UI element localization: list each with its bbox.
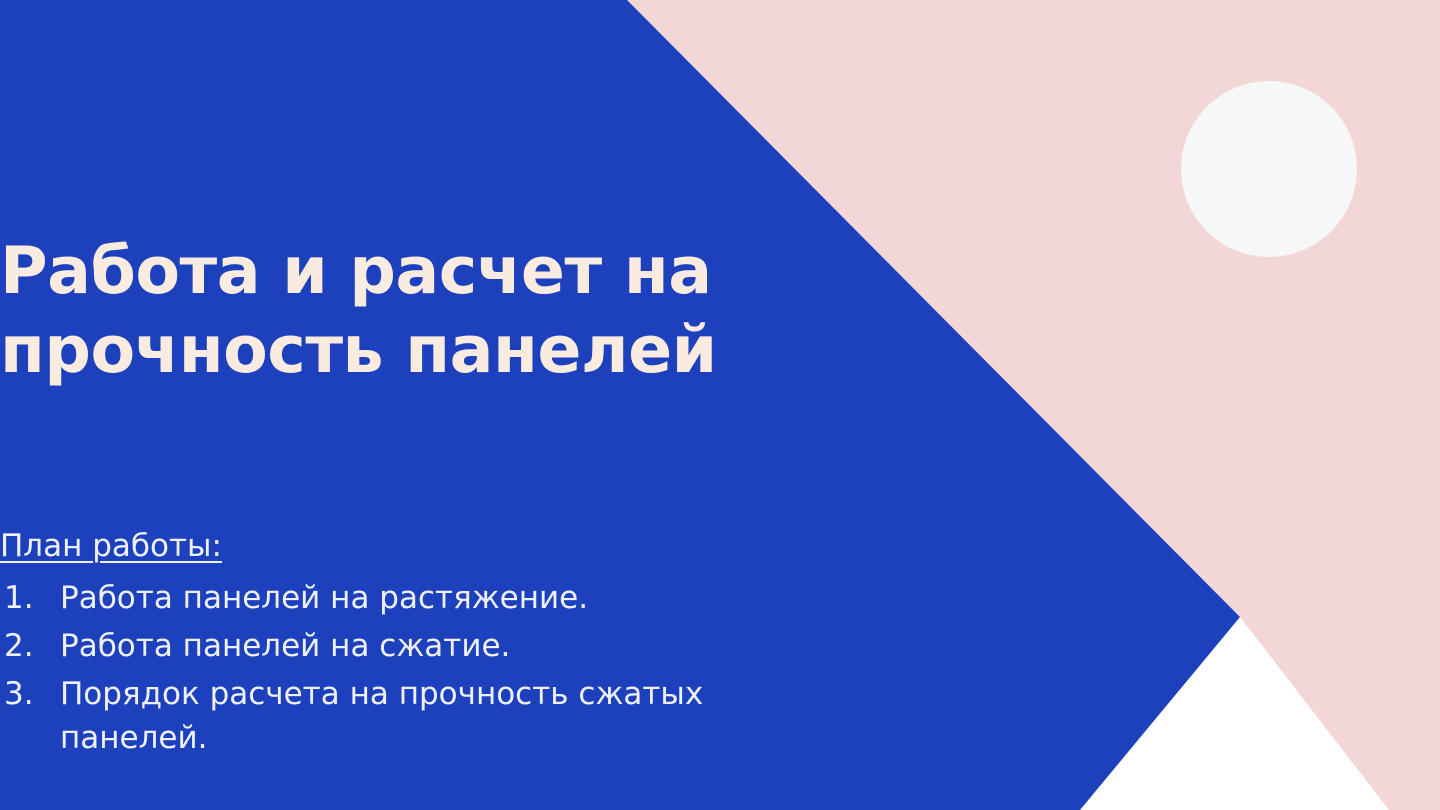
list-item: 3. Порядок расчета на прочность сжатых п…: [0, 672, 860, 760]
plan-heading: План работы:: [0, 524, 222, 568]
plan-block: План работы: 1. Работа панелей на растяж…: [0, 524, 860, 760]
list-item-text: Работа панелей на растяжение.: [60, 580, 588, 616]
list-item-number: 1.: [4, 576, 50, 620]
list-item-number: 2.: [4, 624, 50, 668]
slide-content: Работа и расчет на прочность панелей Пла…: [0, 0, 1440, 810]
list-item-text: Порядок расчета на прочность сжатых пане…: [60, 676, 703, 756]
list-item-text: Работа панелей на сжатие.: [60, 628, 510, 664]
list-item: 1. Работа панелей на растяжение.: [0, 576, 860, 620]
list-item-number: 3.: [4, 672, 50, 716]
presentation-slide: Работа и расчет на прочность панелей Пла…: [0, 0, 1440, 810]
slide-title: Работа и расчет на прочность панелей: [0, 232, 860, 391]
plan-list: 1. Работа панелей на растяжение. 2. Рабо…: [0, 576, 860, 760]
list-item: 2. Работа панелей на сжатие.: [0, 624, 860, 668]
